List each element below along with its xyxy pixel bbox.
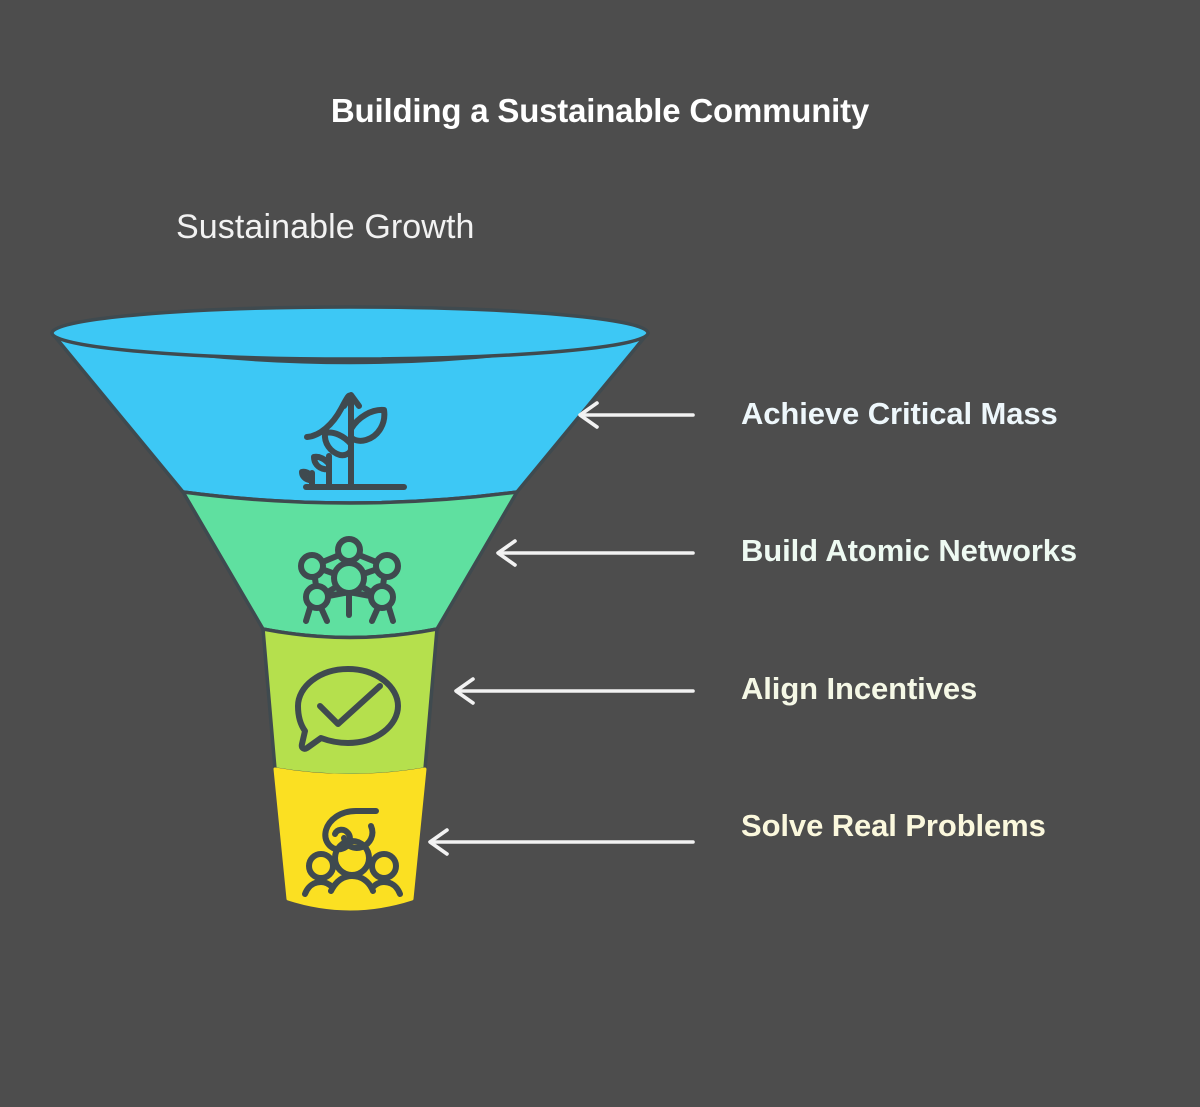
stage-label-achieve-critical-mass: Achieve Critical Mass: [741, 396, 1058, 432]
funnel-stage-3-shape: [263, 629, 437, 776]
funnel-stage-2[interactable]: [183, 492, 517, 638]
connector-arrow-4: [430, 830, 693, 854]
stage-label-solve-real-problems: Solve Real Problems: [741, 808, 1046, 844]
funnel-stage-3[interactable]: [263, 629, 437, 776]
stage-label-build-atomic-networks: Build Atomic Networks: [741, 533, 1077, 569]
funnel-stage-1[interactable]: [52, 307, 648, 503]
funnel-stage-4[interactable]: [275, 769, 425, 909]
connector-arrow-1: [580, 403, 693, 427]
connector-arrow-2: [498, 541, 693, 565]
connector-arrow-3: [456, 679, 693, 703]
stage-label-align-incentives: Align Incentives: [741, 671, 977, 707]
funnel-rim-ellipse: [52, 307, 648, 359]
infographic-canvas: Building a Sustainable Community Sustain…: [0, 0, 1200, 1107]
